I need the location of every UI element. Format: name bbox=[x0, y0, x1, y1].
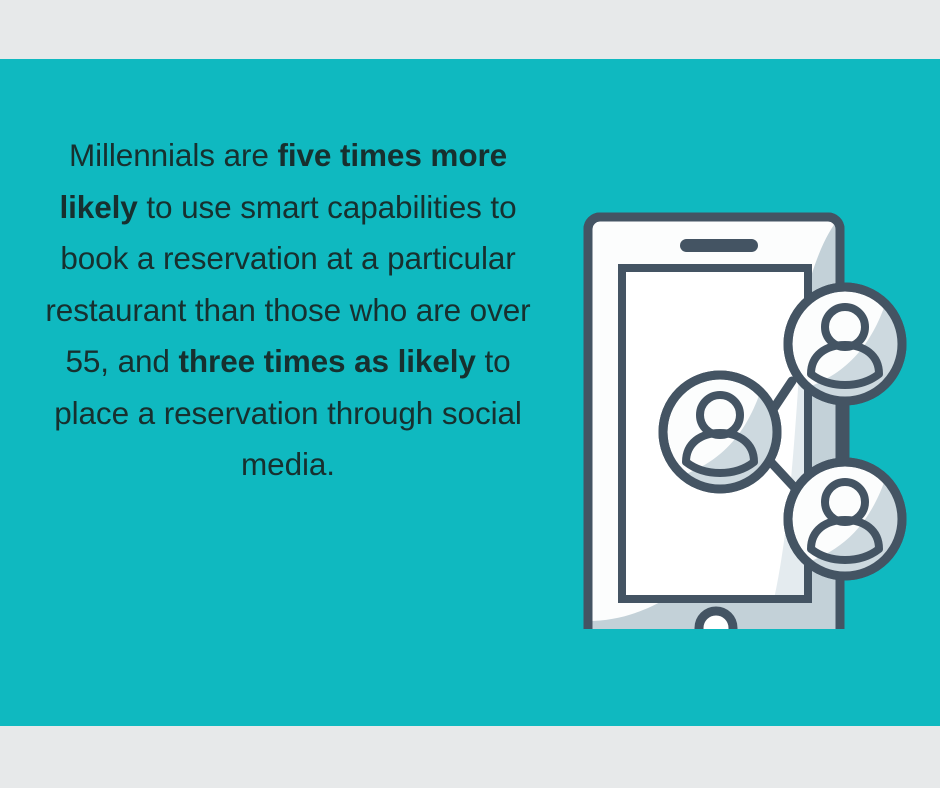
statement-segment: Millennials are bbox=[69, 137, 278, 173]
statement-text: Millennials are five times more likely t… bbox=[28, 130, 548, 491]
phone-illustration bbox=[560, 129, 930, 629]
speaker-bar-icon bbox=[680, 239, 758, 252]
panel-content: Millennials are five times more likely t… bbox=[0, 59, 940, 726]
top-margin-band bbox=[0, 0, 940, 59]
home-button-icon bbox=[699, 611, 733, 629]
bottom-margin-band bbox=[0, 726, 940, 788]
statement-emphasis: three times as likely bbox=[179, 343, 476, 379]
smartphone-network-graphic bbox=[560, 129, 930, 629]
infographic-page: Millennials are five times more likely t… bbox=[0, 0, 940, 788]
teal-panel: Millennials are five times more likely t… bbox=[0, 59, 940, 726]
avatar-bottom-right bbox=[788, 462, 902, 576]
avatar-middle-left bbox=[663, 375, 777, 489]
avatar-top-right bbox=[788, 287, 902, 401]
